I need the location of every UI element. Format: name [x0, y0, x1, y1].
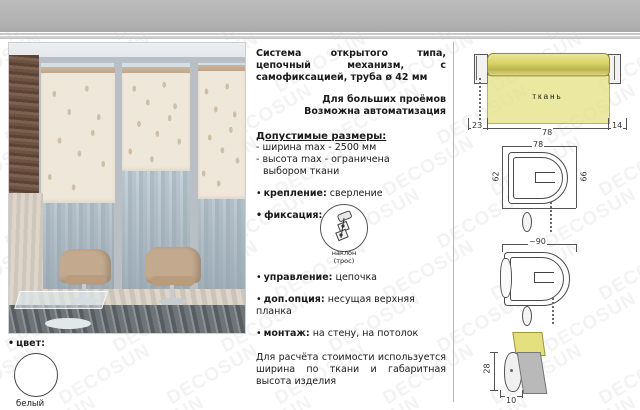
- dim-height-tick-top: [490, 352, 498, 353]
- dim-front-left: 23: [471, 121, 483, 130]
- header-rule-bottom: [0, 36, 640, 39]
- dim-front-right: 14: [611, 121, 623, 130]
- chain-loop: [552, 298, 554, 326]
- feature-value: цепочка: [336, 272, 378, 283]
- dim-tick-right: [576, 244, 577, 252]
- drawing-section-bottom: ~90: [480, 236, 630, 336]
- column-divider: [453, 42, 454, 402]
- feature-dop-opciya: •доп.опция: несущая верхняя планка: [256, 294, 446, 318]
- highlight-line-1: Для больших проёмов: [256, 94, 446, 106]
- feature-label: управление: [264, 272, 329, 283]
- color-label: •цвет:: [8, 338, 78, 349]
- photo-glass-table: [14, 291, 108, 309]
- photo-chair-right-base: [159, 298, 187, 305]
- fabric-label: ткань: [487, 92, 608, 101]
- bullet-icon: •: [8, 338, 14, 349]
- color-name: белый: [16, 399, 78, 409]
- bullet-icon: •: [256, 210, 262, 221]
- feature-label: крепление: [264, 188, 323, 199]
- fabric-slot-top: [535, 172, 555, 173]
- watermark-text: DECOSUN: [217, 392, 316, 410]
- dim-section-right: 66: [580, 170, 589, 182]
- feature-label: фиксация: [264, 210, 318, 221]
- feature-upravlenie: •управление: цепочка: [256, 272, 446, 284]
- dim-height-tick-bottom: [490, 390, 498, 391]
- chain-pull-weight: [522, 212, 532, 232]
- feature-fiksaciya-label: •фиксация:: [256, 210, 322, 221]
- dim-tick-3: [608, 118, 609, 130]
- chain-left: [479, 78, 481, 120]
- dim-front-center: 78: [541, 128, 553, 137]
- size-height-line2: выбором ткани: [256, 166, 339, 178]
- photo-mullion-2: [114, 57, 122, 303]
- tilt-cable-icon: [320, 204, 368, 252]
- color-swatch-white: [14, 353, 58, 397]
- bracket-left-detail: [476, 56, 477, 80]
- roller-tube: [487, 53, 610, 77]
- bottom-bar-screw: [510, 369, 513, 372]
- fabric-slot-bottom: [535, 182, 555, 183]
- header-bar: [0, 0, 640, 32]
- feature-label: доп.опция: [264, 294, 321, 305]
- feature-value: на стену, на потолок: [313, 328, 419, 339]
- drawing-front-elevation: ткань 23 78 14: [458, 48, 636, 136]
- dim-section-left: 62: [492, 170, 501, 182]
- dim-width-tick-right: [522, 390, 523, 398]
- dim-right-line: [576, 146, 577, 208]
- photo-blind-right: [198, 71, 245, 199]
- highlight-line-2: Возможна автоматизация: [256, 106, 446, 118]
- sizes-title: Допустимые размеры:: [256, 131, 446, 142]
- bracket-right-detail: [614, 56, 615, 80]
- dim-bottom-line: [502, 208, 576, 209]
- watermark-text: DECOSUN: [325, 392, 424, 410]
- dim-tick-1: [468, 118, 469, 130]
- color-block: •цвет: белый: [8, 338, 78, 409]
- size-width: - ширина max - 2500 мм: [256, 142, 446, 154]
- photo-table-base: [45, 318, 91, 329]
- dim-bottom-bar-height: 28: [483, 362, 492, 374]
- fabric-slot-bottom: [534, 282, 554, 283]
- dim-tick-4: [626, 118, 627, 130]
- photo-chair-left-seat: [65, 275, 107, 285]
- feature-value: сверление: [330, 188, 383, 199]
- pricing-note: Для расчёта стоимости используется ширин…: [256, 352, 446, 389]
- tilt-cable-glyph: [321, 205, 365, 249]
- dim-width-tick-left: [500, 390, 501, 398]
- header-rule-top: [0, 33, 640, 35]
- feature-fiksaciya: •фиксация: наклон (трос): [256, 210, 446, 268]
- bottom-bar-body: [517, 352, 548, 394]
- dim-section-bottom-top: ~90: [528, 237, 547, 246]
- dim-section-top: 78: [532, 140, 544, 149]
- chain-pull-weight: [522, 306, 532, 326]
- dim-tick-2: [487, 118, 488, 130]
- bullet-icon: •: [256, 328, 262, 339]
- feature-label: монтаж: [264, 328, 306, 339]
- size-height-line1: - высота max - ограничена: [256, 154, 446, 166]
- bullet-icon: •: [256, 188, 262, 199]
- dim-bottom-bar-width: 10: [505, 396, 517, 405]
- feature-krepleniye: •крепление: сверление: [256, 188, 446, 200]
- dim-height-line: [494, 352, 495, 390]
- fabric-slot-end: [534, 272, 535, 282]
- photo-header-beam: [35, 57, 245, 63]
- fabric-slot-end: [535, 172, 536, 182]
- dim-tick-left: [502, 244, 503, 252]
- photo-rug: [9, 305, 245, 333]
- drawing-section-top: 78 62 66: [480, 140, 630, 240]
- watermark-text: DECOSUN: [163, 340, 262, 410]
- fabric-slot-top: [534, 272, 554, 273]
- dim-left-line: [502, 146, 503, 208]
- housing-inner: [513, 157, 563, 199]
- watermark-text: DECOSUN: [109, 392, 208, 410]
- end-cap: [500, 258, 512, 298]
- drawing-bottom-bar: 28 10: [478, 330, 628, 406]
- color-label-text: цвет:: [16, 338, 45, 349]
- housing-inner: [510, 257, 564, 301]
- photo-blind-center: [122, 73, 190, 171]
- feature-montazh: •монтаж: на стену, на потолок: [256, 328, 446, 340]
- product-photo: [8, 42, 246, 334]
- tilt-cable-caption: наклон (трос): [314, 250, 374, 265]
- bullet-icon: •: [256, 294, 262, 305]
- specification-column: Система открытого типа, цепочный механиз…: [256, 48, 446, 340]
- chain-loop: [550, 202, 552, 232]
- intro-text: Система открытого типа, цепочный механиз…: [256, 48, 446, 85]
- photo-blind-left: [41, 73, 115, 203]
- bullet-icon: •: [256, 272, 262, 283]
- caption-line2: (трос): [314, 258, 374, 266]
